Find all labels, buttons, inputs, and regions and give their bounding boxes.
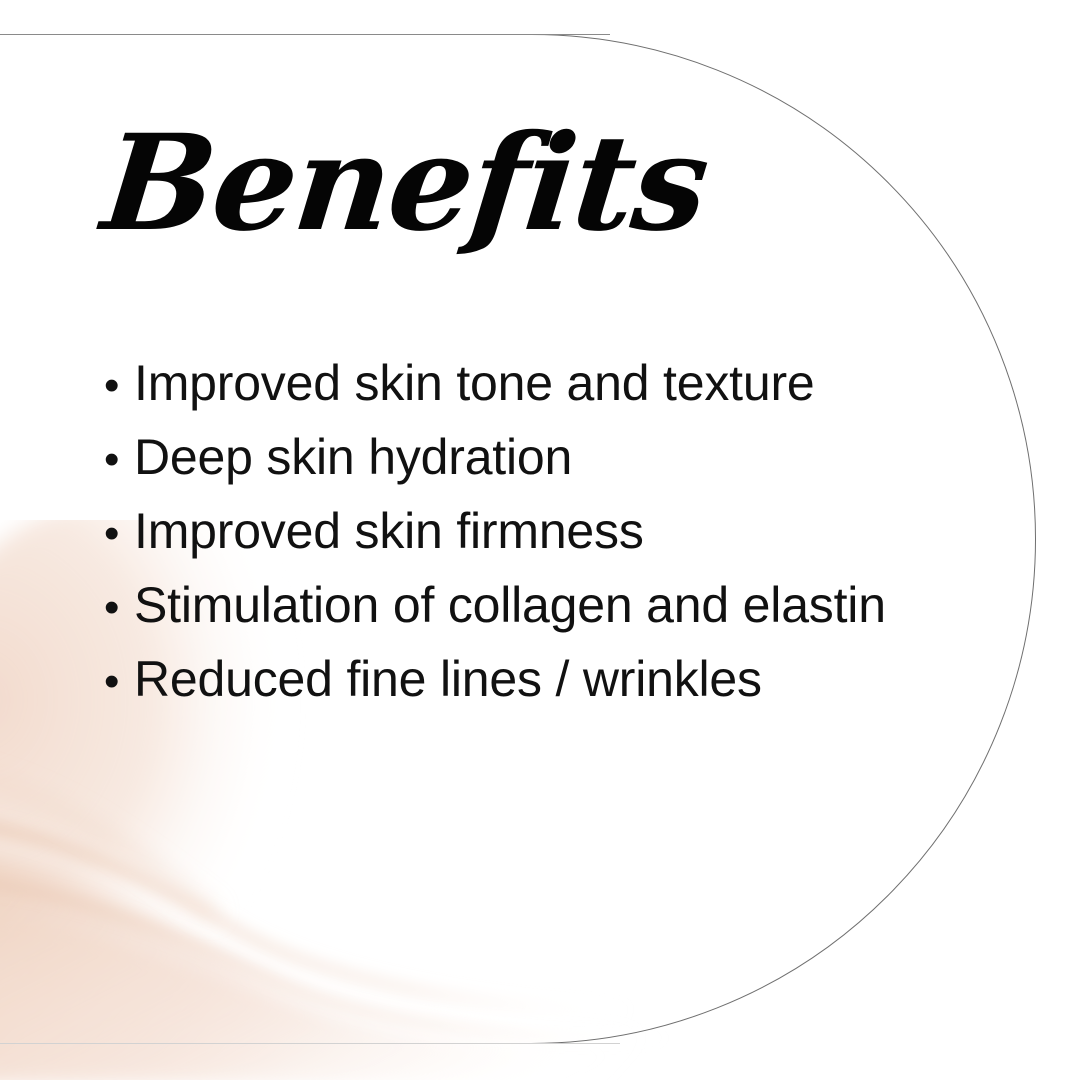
list-item: • Deep skin hydration (104, 432, 1024, 506)
benefits-slide: Benefits • Improved skin tone and textur… (0, 0, 1080, 1080)
page-title: Benefits (97, 118, 713, 250)
frame-bottom-rule (0, 1043, 620, 1044)
list-item: • Reduced fine lines / wrinkles (104, 654, 1024, 728)
list-item: • Improved skin firmness (104, 506, 1024, 580)
list-item-label: Improved skin firmness (134, 506, 1024, 556)
bullet-dot-icon: • (104, 512, 134, 556)
bullet-dot-icon: • (104, 586, 134, 630)
bullet-dot-icon: • (104, 660, 134, 704)
list-item-label: Stimulation of collagen and elastin (134, 580, 1024, 630)
bullet-dot-icon: • (104, 438, 134, 482)
list-item-label: Improved skin tone and texture (134, 358, 1024, 408)
list-item-label: Reduced fine lines / wrinkles (134, 654, 1024, 704)
list-item: • Stimulation of collagen and elastin (104, 580, 1024, 654)
frame-top-rule (0, 34, 610, 35)
bullet-dot-icon: • (104, 364, 134, 408)
list-item: • Improved skin tone and texture (104, 358, 1024, 432)
list-item-label: Deep skin hydration (134, 432, 1024, 482)
benefits-list: • Improved skin tone and texture • Deep … (104, 358, 1024, 728)
